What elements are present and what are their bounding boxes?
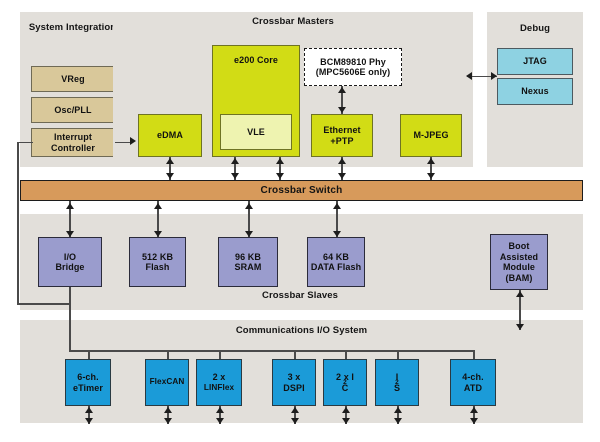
connector-iobridge-drop	[69, 287, 71, 351]
block-bam-label-line4: (BAM)	[504, 273, 535, 284]
block-osc-pll[interactable]: Osc/PLL	[31, 97, 115, 123]
block-64kb-data-flash-label-line1: 64 KB	[321, 252, 351, 263]
panel-title-line2: Integration	[66, 22, 116, 33]
block-jtag[interactable]: JTAG	[497, 48, 573, 75]
arrow-pin-i2s-up	[394, 407, 402, 413]
block-ethernet-ptp-label-line1: Ethernet	[321, 125, 362, 136]
arrow-pin-flexcan-up	[164, 407, 172, 413]
connector-intc-to-iobridge-bus	[17, 303, 70, 305]
block-flexcan-label: FlexCAN	[148, 377, 187, 388]
connector-comms-rail	[69, 350, 474, 352]
connector-rail-flexcan	[167, 350, 169, 359]
block-interrupt-controller-label-line1: Interrupt	[52, 132, 94, 143]
panel-crossbar-slaves-title: Crossbar Slaves	[130, 290, 470, 301]
block-64kb-data-flash-label-line2: DATA Flash	[309, 262, 363, 273]
block-bcm89810-phy-label-line2: (MPC5606E only)	[314, 67, 393, 78]
block-512kb-flash-label-line1: 512 KB	[140, 252, 175, 263]
arrow-pin-dspi-up	[291, 407, 299, 413]
arrow-dataflash-up	[333, 203, 341, 209]
connector-rail-i2c	[345, 350, 347, 359]
block-96kb-sram-label-line2: SRAM	[233, 262, 264, 273]
arrow-ethernet-up	[338, 158, 346, 164]
block-interrupt-controller[interactable]: Interrupt Controller	[31, 128, 115, 157]
arrow-mjpeg-down	[427, 173, 435, 179]
connector-rail-linflex	[219, 350, 221, 359]
block-bam-label-line3: Module	[501, 262, 537, 273]
arrow-pin-etimer-up	[85, 407, 93, 413]
block-linflex-label-line2: LINFlex	[202, 383, 236, 394]
arrow-intc-to-edma	[130, 137, 136, 145]
arrow-pin-atd-up	[470, 407, 478, 413]
connector-rail-etimer	[88, 350, 90, 359]
block-dspi-label-line1: 3 x	[286, 372, 303, 383]
block-64kb-data-flash[interactable]: 64 KB DATA Flash	[307, 237, 365, 287]
arrow-pin-i2c-down	[342, 418, 350, 424]
block-vle-label: VLE	[245, 127, 267, 138]
block-atd-label-line2: ATD	[462, 383, 484, 394]
block-ethernet-ptp-label-line2: +PTP	[328, 136, 355, 147]
arrow-mjpeg-up	[427, 158, 435, 164]
connector-intc-down	[17, 142, 19, 305]
block-diagram-canvas: System Integration VReg Osc/PLL Interrup…	[0, 0, 600, 442]
arrow-pin-etimer-down	[85, 418, 93, 424]
block-etimer-label-line1: 6-ch.	[75, 372, 101, 383]
arrow-pin-i2c-up	[342, 407, 350, 413]
block-i2s[interactable]: I2S	[375, 359, 419, 406]
panel-crossbar-slaves-title-text: Crossbar Slaves	[262, 290, 338, 301]
block-i2c-label: 2 x I2C	[332, 372, 358, 393]
block-edma-label: eDMA	[155, 130, 185, 141]
block-i2c[interactable]: 2 x I2C	[323, 359, 367, 406]
arrow-iobridge-up	[66, 203, 74, 209]
panel-crossbar-masters-title-text: Crossbar Masters	[252, 16, 334, 27]
block-io-bridge[interactable]: I/O Bridge	[38, 237, 102, 287]
block-flexcan[interactable]: FlexCAN	[145, 359, 189, 406]
block-bam-label-line1: Boot	[507, 241, 532, 252]
block-bcm89810-phy-label-line1: BCM89810 Phy	[318, 57, 388, 68]
block-linflex[interactable]: 2 x LINFlex	[196, 359, 242, 406]
connector-rail-i2s	[397, 350, 399, 359]
block-dspi[interactable]: 3 x DSPI	[272, 359, 316, 406]
crossbar-switch-label: Crossbar Switch	[261, 185, 343, 196]
panel-comms-io-system-title-text: Communications I/O System	[236, 325, 367, 336]
connector-rail-atd	[473, 350, 475, 359]
arrow-ethernet-down	[338, 173, 346, 179]
arrow-pin-flexcan-down	[164, 418, 172, 424]
block-nexus-label: Nexus	[519, 86, 551, 97]
arrow-core-right-up	[276, 158, 284, 164]
crossbar-switch-bus[interactable]: Crossbar Switch	[20, 180, 583, 201]
block-512kb-flash-label-line2: Flash	[143, 262, 171, 273]
arrow-pin-dspi-down	[291, 418, 299, 424]
arrow-debug-right	[491, 72, 497, 80]
block-512kb-flash[interactable]: 512 KB Flash	[129, 237, 186, 287]
block-e200-core-label: e200 Core	[232, 55, 280, 66]
arrow-dataflash-down	[333, 231, 341, 237]
block-vle[interactable]: VLE	[220, 114, 292, 150]
arrow-pin-atd-down	[470, 418, 478, 424]
arrow-core-right-down	[276, 173, 284, 179]
panel-crossbar-masters-title: Crossbar Masters	[113, 16, 473, 27]
block-i2s-label-part2: S	[392, 383, 402, 394]
connector-rail-dspi	[294, 350, 296, 359]
block-io-bridge-label-line1: I/O	[62, 252, 78, 263]
block-atd[interactable]: 4-ch. ATD	[450, 359, 496, 406]
block-bam-label-line2: Assisted	[498, 252, 540, 263]
panel-title-line1: System	[29, 22, 63, 33]
arrow-bam-up	[516, 291, 524, 297]
panel-system-integration-title: System Integration	[20, 22, 125, 33]
block-osc-pll-label: Osc/PLL	[52, 105, 93, 116]
arrow-core-left-up	[231, 158, 239, 164]
block-interrupt-controller-label-line2: Controller	[49, 143, 97, 154]
block-io-bridge-label-line2: Bridge	[53, 262, 86, 273]
block-dspi-label-line2: DSPI	[281, 383, 306, 394]
block-ethernet-ptp[interactable]: Ethernet +PTP	[311, 114, 373, 157]
arrow-pin-linflex-down	[216, 418, 224, 424]
arrow-sram-down	[245, 231, 253, 237]
block-nexus[interactable]: Nexus	[497, 78, 573, 105]
arrow-sram-up	[245, 203, 253, 209]
block-96kb-sram[interactable]: 96 KB SRAM	[218, 237, 278, 287]
arrow-phy-up	[338, 87, 346, 93]
arrow-bam-down	[516, 324, 524, 330]
arrow-iobridge-down	[66, 231, 74, 237]
arrow-phy-down	[338, 107, 346, 113]
block-bam[interactable]: Boot Assisted Module (BAM)	[490, 234, 548, 290]
block-m-jpeg[interactable]: M-JPEG	[400, 114, 462, 157]
arrow-512flash-up	[154, 203, 162, 209]
arrow-pin-linflex-up	[216, 407, 224, 413]
block-linflex-label-line1: 2 x	[211, 372, 228, 383]
block-m-jpeg-label: M-JPEG	[411, 130, 450, 141]
arrow-pin-i2s-down	[394, 418, 402, 424]
panel-debug-title: Debug	[487, 23, 583, 34]
block-vreg[interactable]: VReg	[31, 66, 115, 92]
block-atd-label-line1: 4-ch.	[460, 372, 486, 383]
block-i2s-label: I2S	[390, 372, 404, 393]
block-bcm89810-phy[interactable]: BCM89810 Phy (MPC5606E only)	[304, 48, 402, 86]
panel-debug-title-text: Debug	[520, 23, 550, 34]
block-jtag-label: JTAG	[521, 56, 549, 67]
block-etimer[interactable]: 6-ch. eTimer	[65, 359, 111, 406]
block-edma[interactable]: eDMA	[138, 114, 202, 157]
block-i2c-label-part2: C	[334, 383, 356, 394]
arrow-core-left-down	[231, 173, 239, 179]
arrow-debug-left	[466, 72, 472, 80]
arrow-edma-up	[166, 158, 174, 164]
arrow-edma-down	[166, 173, 174, 179]
block-etimer-label-line2: eTimer	[71, 383, 105, 394]
block-vreg-label: VReg	[59, 74, 86, 85]
block-96kb-sram-label-line1: 96 KB	[233, 252, 263, 263]
connector-intc-left-stub	[17, 142, 33, 144]
panel-comms-io-system-title: Communications I/O System	[20, 325, 583, 336]
arrow-512flash-down	[154, 231, 162, 237]
